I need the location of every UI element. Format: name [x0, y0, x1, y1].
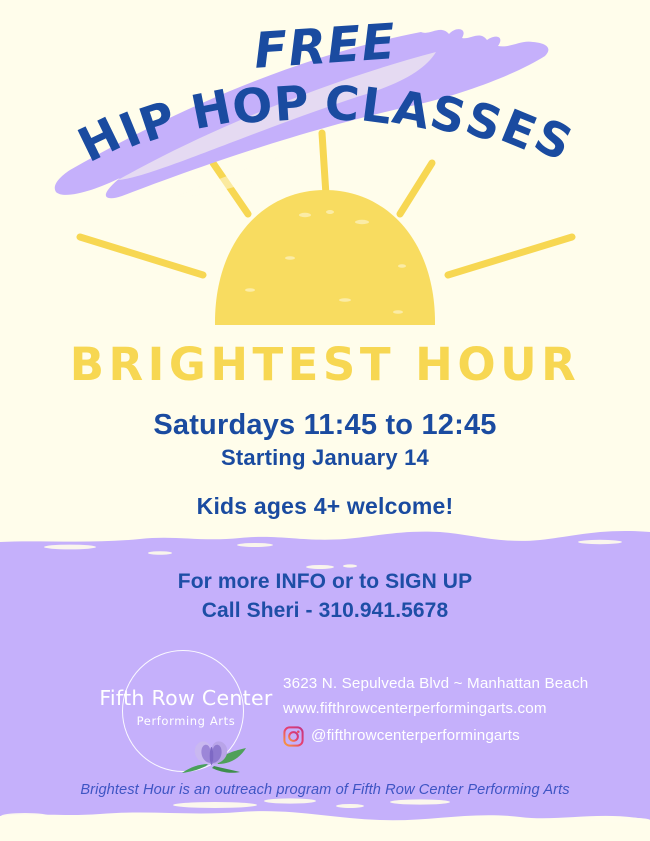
detail-ages: Kids ages 4+ welcome!: [0, 493, 650, 520]
tagline: Brightest Hour is an outreach program of…: [0, 782, 650, 798]
detail-start-date: Starting January 14: [0, 445, 650, 471]
contact-website[interactable]: www.fifthrowcenterperformingarts.com: [283, 697, 633, 722]
flyer-canvas: FREE HIPHOPCLASSES BRIGHTEST HOUR Saturd…: [0, 0, 650, 841]
cta-line-2: Call Sheri - 310.941.5678: [0, 597, 650, 626]
logo: Fifth Row Center Performing Arts: [98, 648, 274, 772]
headline-char: H: [186, 79, 235, 141]
instagram-icon[interactable]: [283, 726, 304, 747]
sun-texture: [245, 210, 406, 314]
program-title: BRIGHTEST HOUR: [0, 338, 650, 391]
contact-info: 3623 N. Sepulveda Blvd ~ Manhattan Beach…: [283, 672, 633, 749]
butterfly-flower-icon: [176, 728, 250, 774]
detail-schedule: Saturdays 11:45 to 12:45: [0, 410, 650, 441]
logo-subtitle: Performing Arts: [98, 714, 274, 728]
class-details: Saturdays 11:45 to 12:45 Starting Januar…: [0, 410, 650, 520]
instagram-handle[interactable]: @fifthrowcenterperformingarts: [311, 724, 520, 749]
footer-content: For more INFO or to SIGN UP Call Sheri -…: [0, 520, 650, 841]
logo-name: Fifth Row Center: [98, 686, 274, 710]
sun-dome: [215, 190, 435, 325]
instagram-row[interactable]: @fifthrowcenterperformingarts: [283, 724, 633, 749]
headline-char: O: [229, 77, 276, 137]
call-to-action: For more INFO or to SIGN UP Call Sheri -…: [0, 568, 650, 626]
headline-char: P: [272, 76, 310, 133]
headline-hip-hop-classes: HIPHOPCLASSES: [0, 76, 650, 176]
contact-address: 3623 N. Sepulveda Blvd ~ Manhattan Beach: [283, 672, 633, 697]
cta-line-1: For more INFO or to SIGN UP: [0, 568, 650, 597]
headline-char: C: [323, 76, 361, 133]
